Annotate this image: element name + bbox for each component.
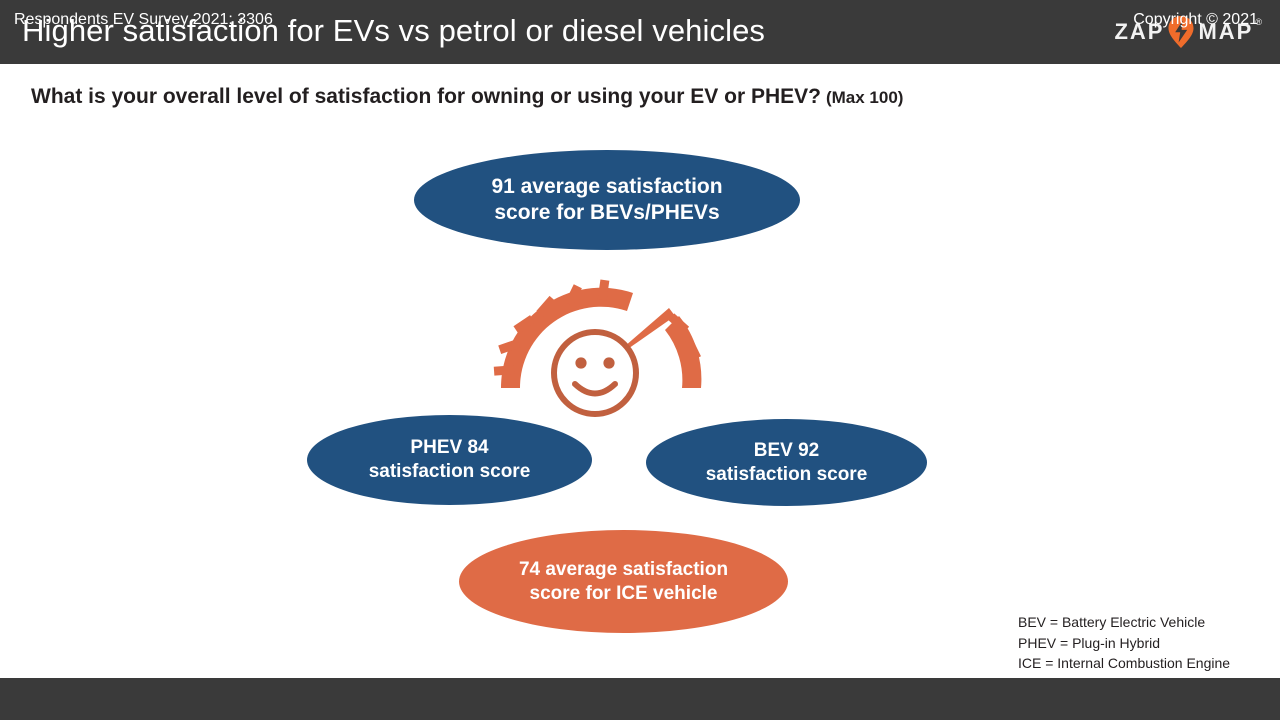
bubble-phev-score: PHEV 84 satisfaction score xyxy=(307,415,592,505)
bubble-bev-line2: satisfaction score xyxy=(706,464,868,485)
bubble-top-line1: 91 average satisfaction xyxy=(491,175,722,198)
satisfaction-gauge-smiley-icon xyxy=(483,272,719,420)
bubble-ice-line1: 74 average satisfaction xyxy=(519,559,728,580)
bubble-ice-line2: score for ICE vehicle xyxy=(530,583,718,604)
bubble-ice-average: 74 average satisfaction score for ICE ve… xyxy=(459,530,788,633)
question-line: What is your overall level of satisfacti… xyxy=(31,85,903,109)
question-text: What is your overall level of satisfacti… xyxy=(31,85,821,108)
bubble-phev-text: PHEV 84 satisfaction score xyxy=(325,436,574,484)
bubble-ice-text: 74 average satisfaction score for ICE ve… xyxy=(477,558,770,606)
bubble-bev-text: BEV 92 satisfaction score xyxy=(664,439,909,487)
footer-respondents: Respondents EV Survey 2021: 3306 xyxy=(14,11,273,29)
bubble-bev-score: BEV 92 satisfaction score xyxy=(646,419,927,506)
gauge-smiley-face xyxy=(554,332,636,414)
legend-line-phev: PHEV = Plug-in Hybrid xyxy=(1018,633,1230,654)
bubble-top-text: 91 average satisfaction score for BEVs/P… xyxy=(432,174,782,227)
abbreviation-legend: BEV = Battery Electric Vehicle PHEV = Pl… xyxy=(1018,612,1230,674)
legend-line-bev: BEV = Battery Electric Vehicle xyxy=(1018,612,1230,633)
legend-line-ice: ICE = Internal Combustion Engine xyxy=(1018,653,1230,674)
slide-canvas: Higher satisfaction for EVs vs petrol or… xyxy=(0,0,1280,720)
bubble-bev-line1: BEV 92 xyxy=(754,440,819,461)
footer-bar xyxy=(0,678,1280,720)
question-max-note: (Max 100) xyxy=(826,88,903,107)
bubble-phev-line2: satisfaction score xyxy=(369,461,531,482)
footer-copyright: Copyright © 2021 xyxy=(1133,11,1258,29)
bubble-top-line2: score for BEVs/PHEVs xyxy=(494,201,719,224)
bubble-phev-line1: PHEV 84 xyxy=(410,437,488,458)
bubble-bev-phev-average: 91 average satisfaction score for BEVs/P… xyxy=(414,150,800,250)
